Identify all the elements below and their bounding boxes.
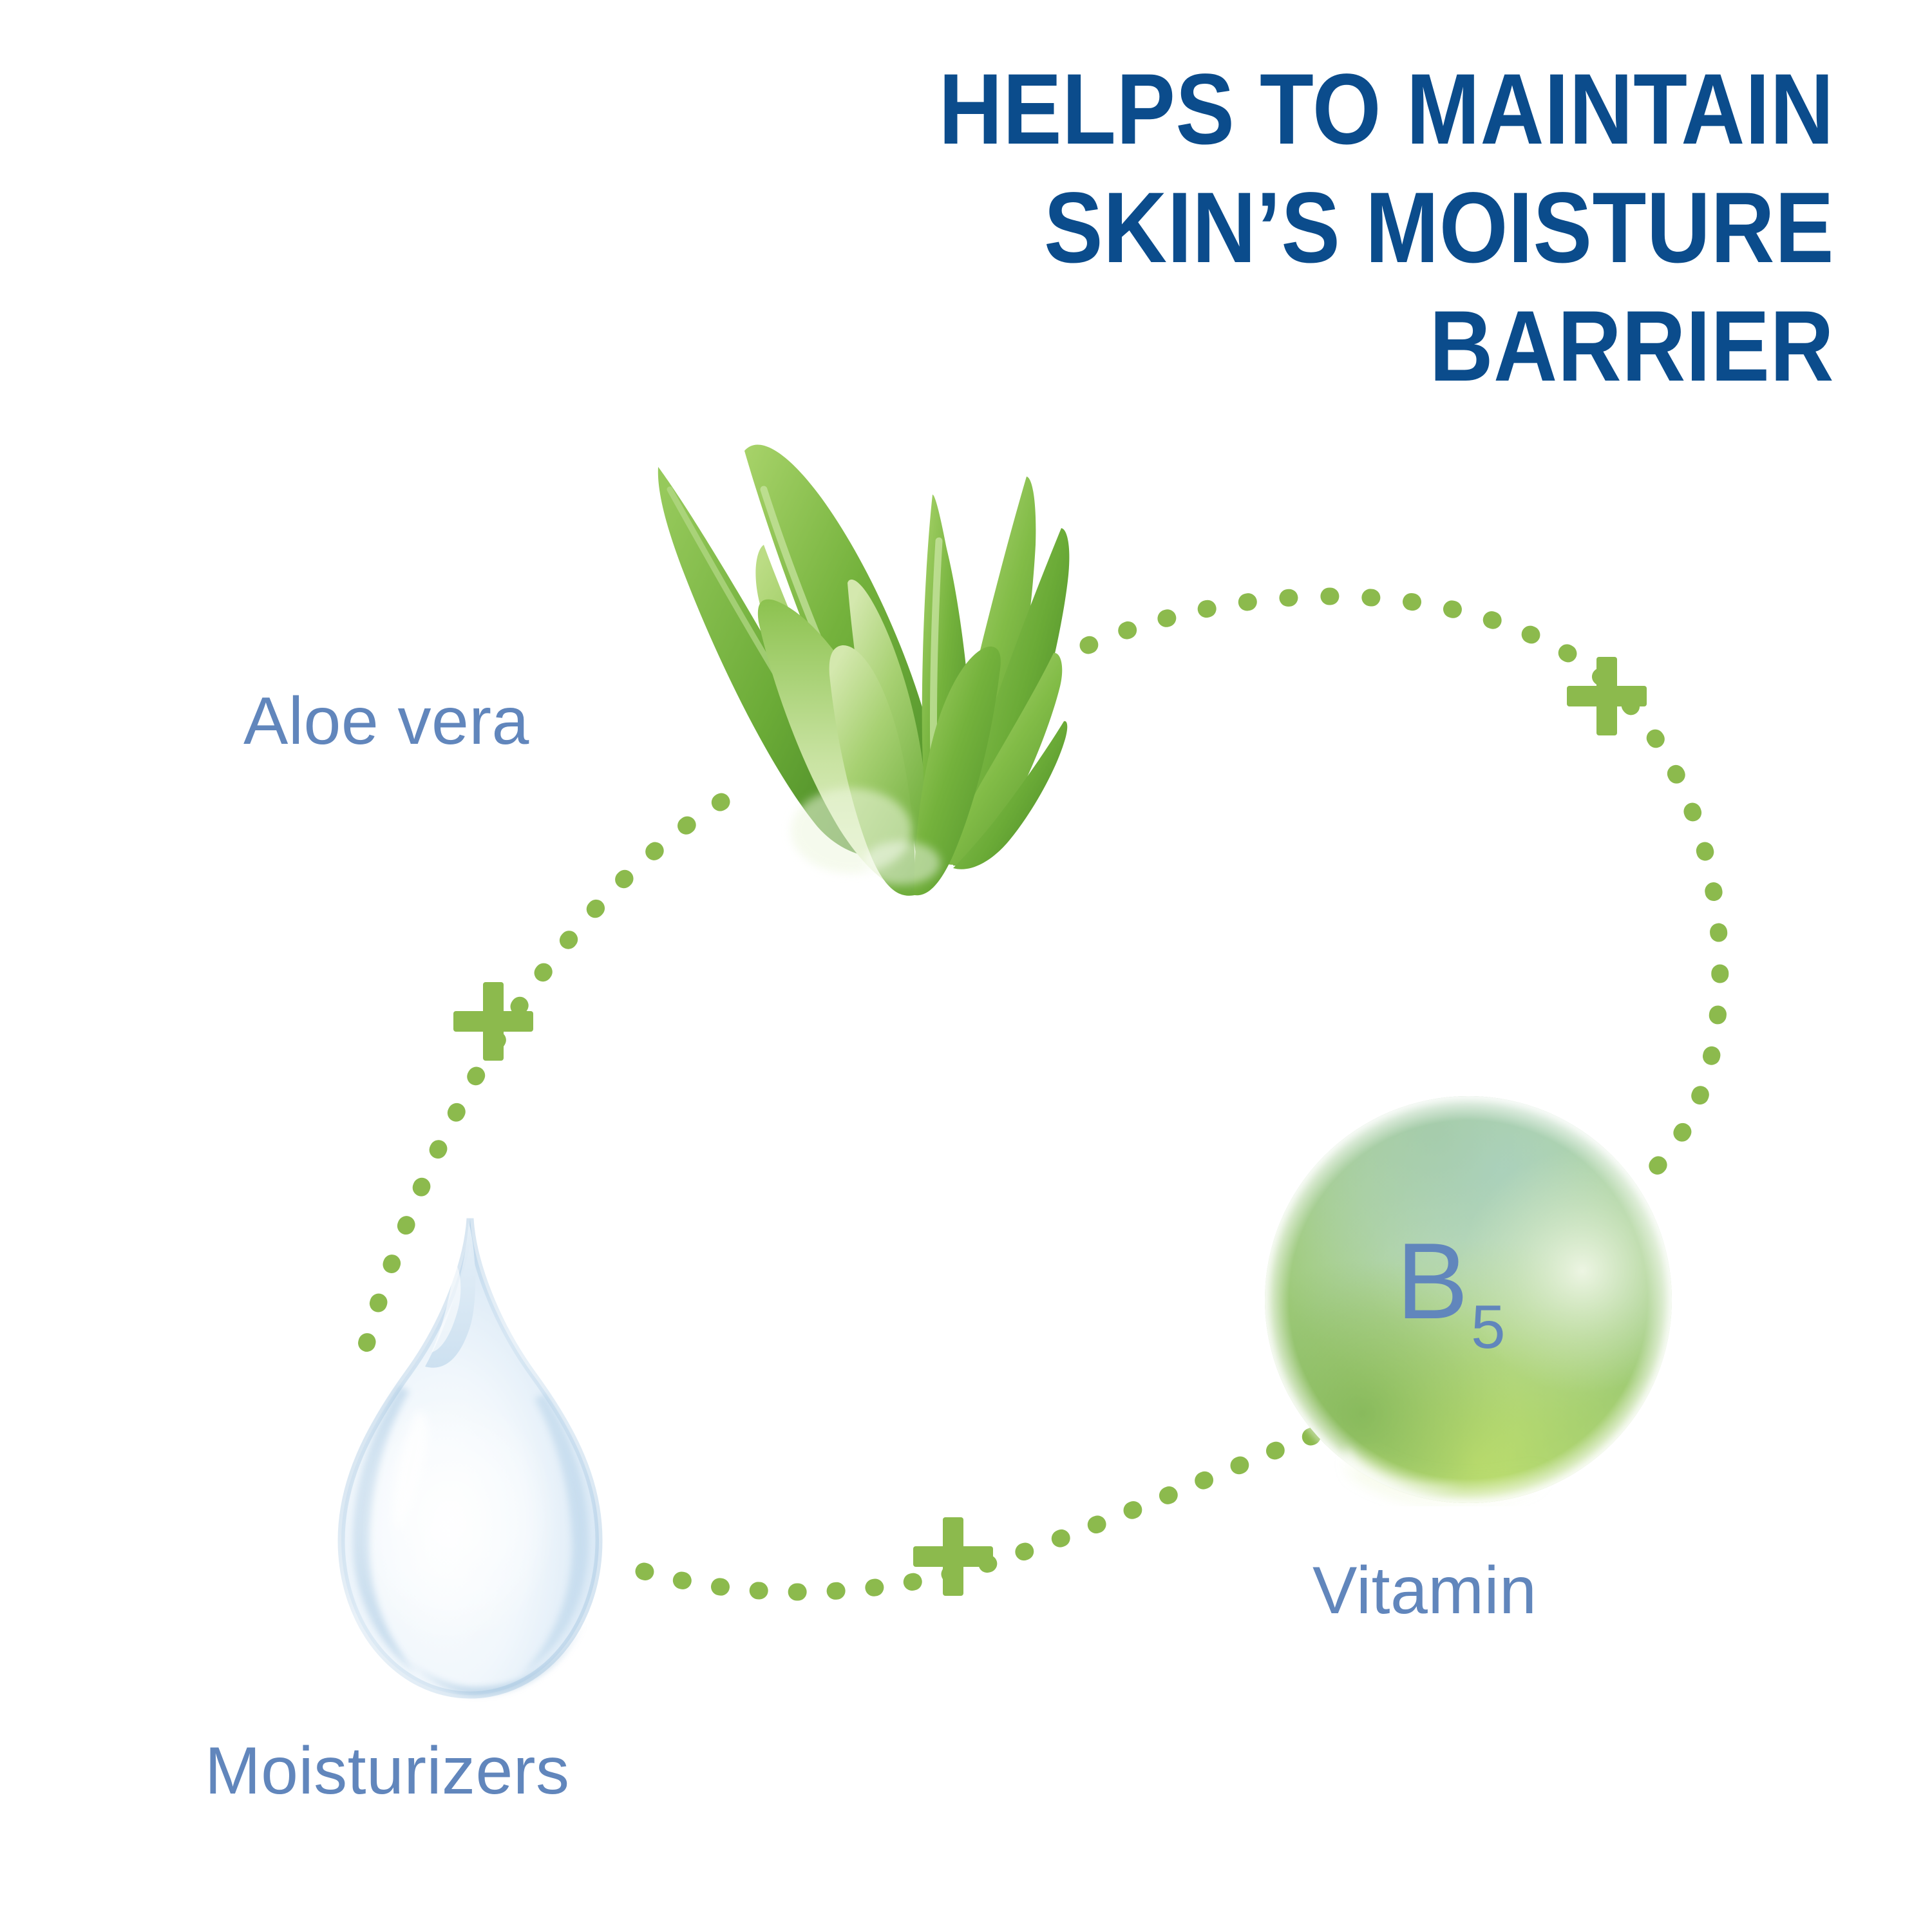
water-droplet-icon	[341, 1218, 599, 1695]
aloe-vera-plant-icon	[658, 444, 1070, 895]
illustration-artboard	[0, 0, 1932, 1932]
plus-icon-top-right	[1567, 657, 1647, 735]
plus-icon-bottom	[913, 1517, 993, 1596]
arc-moisturizers-to-vitamin	[644, 1431, 1327, 1592]
vitamin-symbol-letter: B	[1396, 1220, 1468, 1341]
arc-aloe-to-moisturizers	[365, 802, 721, 1352]
ingredient-label-vitamin: Vitamin	[1312, 1557, 1537, 1624]
ingredient-label-moisturizers: Moisturizers	[205, 1738, 570, 1804]
vitamin-symbol-subscript: 5	[1471, 1293, 1505, 1361]
plus-icon-left	[453, 982, 533, 1061]
vitamin-b5-symbol: B5	[1396, 1227, 1502, 1335]
infographic-canvas: HELPS TO MAINTAIN SKIN’S MOISTURE BARRIE…	[0, 0, 1932, 1932]
ingredient-label-aloe-vera: Aloe vera	[243, 688, 529, 755]
